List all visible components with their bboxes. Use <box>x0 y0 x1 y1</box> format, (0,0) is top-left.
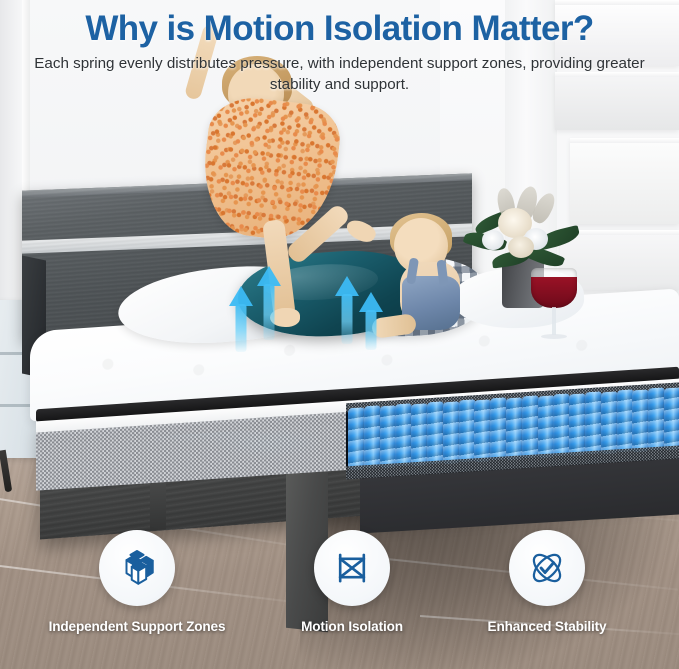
pocket-coil <box>601 391 618 454</box>
pocket-coil <box>506 397 523 460</box>
pocket-coil <box>617 389 634 452</box>
feature-independent-support-zones[interactable]: Independent Support Zones <box>37 530 237 634</box>
motion-arrow <box>256 266 282 340</box>
motion-arrow <box>358 292 384 350</box>
girl-foot <box>344 216 379 245</box>
pocket-coil <box>427 401 444 464</box>
feature-icon-circle <box>314 530 390 606</box>
pocket-coil <box>411 403 428 466</box>
pocket-coil <box>459 399 476 462</box>
pocket-coil <box>538 395 555 458</box>
infographic-stage: Why is Motion Isolation Matter? Each spr… <box>0 0 679 669</box>
feature-motion-isolation[interactable]: Motion Isolation <box>252 530 452 634</box>
pocket-coil <box>648 387 665 450</box>
header: Why is Motion Isolation Matter? Each spr… <box>0 0 679 100</box>
pocket-coil <box>364 405 381 468</box>
pocket-coil <box>569 393 586 456</box>
toddler-sitting <box>378 218 484 338</box>
flower-bloom <box>482 230 504 250</box>
pocket-coil <box>474 399 491 462</box>
atom-check-icon <box>526 547 568 589</box>
pocket-coil <box>443 401 460 464</box>
pocket-coil <box>585 391 602 454</box>
flower-bloom <box>508 236 534 258</box>
feature-icon-circle <box>99 530 175 606</box>
pocket-coil <box>348 407 365 470</box>
pocket-coil <box>522 395 539 458</box>
pocket-coil <box>664 387 679 450</box>
feature-enhanced-stability[interactable]: Enhanced Stability <box>447 530 647 634</box>
page-title: Why is Motion Isolation Matter? <box>0 6 679 52</box>
pocket-coil <box>380 405 397 468</box>
wine-glass <box>531 268 577 342</box>
feature-icon-circle <box>509 530 585 606</box>
feature-row: Independent Support Zones Motion Isolati… <box>0 530 679 650</box>
pocket-coil <box>490 397 507 460</box>
pocket-coil <box>395 403 412 466</box>
cubes-icon <box>116 547 158 589</box>
wall-shelf-3 <box>570 138 679 224</box>
motion-arrow <box>228 286 254 352</box>
pocket-coil <box>553 393 570 456</box>
pocket-coil <box>632 389 649 452</box>
feature-label: Enhanced Stability <box>447 619 647 634</box>
page-subtitle: Each spring evenly distributes pressure,… <box>0 53 679 95</box>
bowtie-motion-icon <box>331 547 373 589</box>
motion-arrow <box>334 276 360 344</box>
feature-label: Motion Isolation <box>252 619 452 634</box>
feature-label: Independent Support Zones <box>37 619 237 634</box>
